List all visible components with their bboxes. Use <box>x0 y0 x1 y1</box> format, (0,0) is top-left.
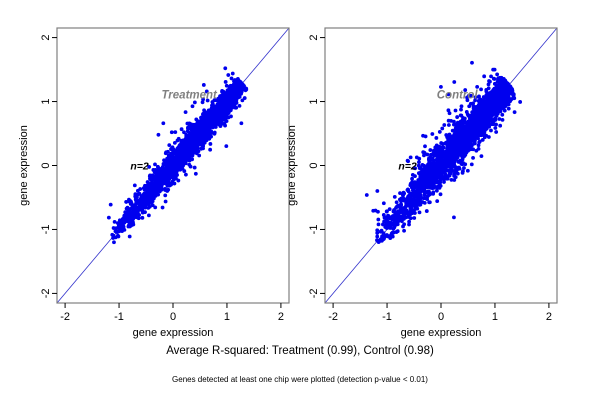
y-tick-label: -2 <box>308 289 320 299</box>
panel-title: Control <box>437 89 479 101</box>
y-axis-label: gene expression <box>18 125 30 206</box>
y-tick-label: -1 <box>308 225 320 235</box>
x-tick-label: 0 <box>170 311 176 323</box>
sample-size-annotation: n=2 <box>130 160 149 172</box>
x-tick-label: -1 <box>382 311 392 323</box>
y-tick-label: 1 <box>40 98 52 104</box>
x-tick-label: 0 <box>438 311 444 323</box>
x-axis-label: gene expression <box>401 327 482 339</box>
x-tick-label: -1 <box>114 311 124 323</box>
y-tick-label: 1 <box>308 98 320 104</box>
panel-treatment: -2-1012-2-1012gene expressiongene expres… <box>18 28 289 339</box>
y-tick-label: 2 <box>40 35 52 41</box>
x-axis-label: gene expression <box>133 327 214 339</box>
y-tick-label: 0 <box>40 162 52 168</box>
sample-size-annotation: n=2 <box>398 160 417 172</box>
x-tick-label: -2 <box>328 311 338 323</box>
y-axis-label: gene expression <box>286 125 298 206</box>
scatter-figure: -2-1012-2-1012gene expressiongene expres… <box>0 0 600 400</box>
y-tick-label: 2 <box>308 35 320 41</box>
x-tick-label: -2 <box>60 311 70 323</box>
scatter-points <box>365 61 522 244</box>
panel-control: -2-1012-2-1012gene expressiongene expres… <box>286 28 557 339</box>
y-tick-label: 0 <box>308 162 320 168</box>
panel-title: Treatment <box>161 89 218 101</box>
x-tick-label: 2 <box>278 311 284 323</box>
caption-subtitle: Genes detected at least one chip were pl… <box>0 375 600 384</box>
x-tick-label: 2 <box>546 311 552 323</box>
x-tick-label: 1 <box>224 311 230 323</box>
y-tick-label: -2 <box>40 289 52 299</box>
y-tick-label: -1 <box>40 225 52 235</box>
caption-main: Average R-squared: Treatment (0.99), Con… <box>0 345 600 357</box>
x-tick-label: 1 <box>492 311 498 323</box>
